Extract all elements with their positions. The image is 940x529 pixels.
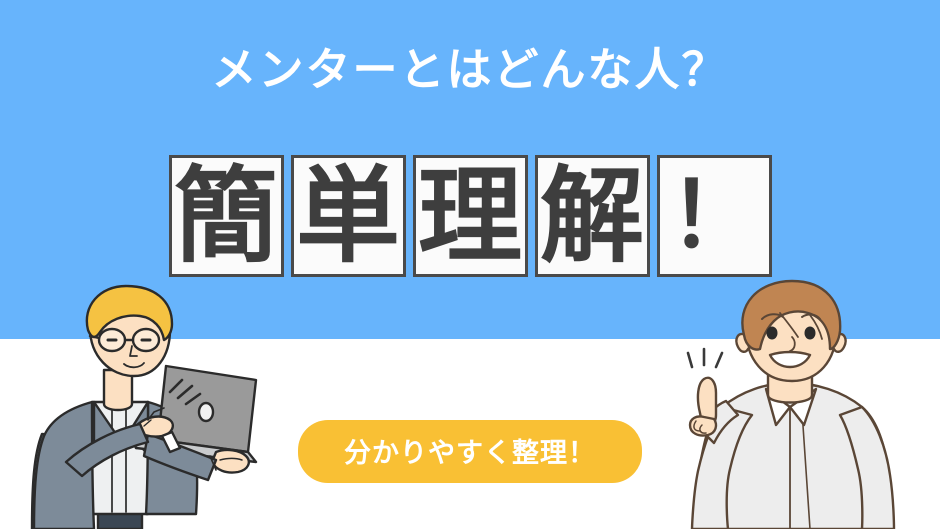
headline-char-box-2: 単 xyxy=(291,155,406,277)
badge-wrapper: 分かりやすく整理！ xyxy=(0,420,940,483)
headline-char-box-1: 簡 xyxy=(169,155,284,277)
status-badge: 分かりやすく整理！ xyxy=(298,420,642,483)
headline-char-box-3: 理 xyxy=(413,155,528,277)
page-title: メンターとはどんな人？ xyxy=(0,44,940,96)
subtitle: 良いメンターの共通点 xyxy=(0,335,940,389)
banner-root: メンターとはどんな人？ 簡 単 理 解 ！ 良いメンターの共通点 分かりやすく整… xyxy=(0,0,940,529)
headline-boxes: 簡 単 理 解 ！ xyxy=(0,155,940,277)
illustration-man-pointing-up xyxy=(650,279,930,529)
illustration-man-with-laptop xyxy=(20,284,290,529)
headline-char-box-5: ！ xyxy=(657,155,772,277)
headline-char-box-4: 解 xyxy=(535,155,650,277)
